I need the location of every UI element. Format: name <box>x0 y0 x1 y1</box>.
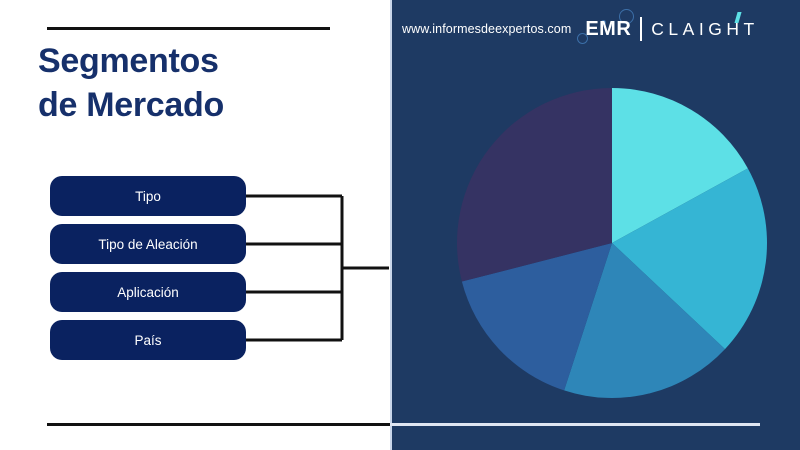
brand-bar: www.informesdeexpertos.com EMR CLAIGHT <box>392 14 800 44</box>
top-divider-rule <box>47 27 330 30</box>
infographic-slide: Segmentos de Mercado Tipo Tipo de Aleaci… <box>0 0 800 450</box>
segment-list: Tipo Tipo de Aleación Aplicación País <box>50 176 246 360</box>
logo-emr-text: EMR <box>585 18 631 41</box>
bottom-divider-rule <box>47 423 390 426</box>
right-panel: www.informesdeexpertos.com EMR CLAIGHT <box>390 0 800 450</box>
segment-item-aplicacion[interactable]: Aplicación <box>50 272 246 312</box>
pie-chart-svg <box>457 88 767 398</box>
left-panel: Segmentos de Mercado Tipo Tipo de Aleaci… <box>0 0 390 450</box>
bottom-divider-rule-right <box>390 423 760 426</box>
emr-claight-logo[interactable]: EMR CLAIGHT <box>585 14 758 44</box>
segment-item-tipo[interactable]: Tipo <box>50 176 246 216</box>
pie-chart <box>457 88 767 398</box>
segment-item-tipo-de-aleacion[interactable]: Tipo de Aleación <box>50 224 246 264</box>
segment-item-label: Tipo <box>135 189 161 204</box>
segment-item-label: País <box>134 333 161 348</box>
page-title-line-1: Segmentos <box>38 40 368 84</box>
page-title-line-2: de Mercado <box>38 84 368 128</box>
segment-item-label: Aplicación <box>117 285 179 300</box>
logo-claight-text: CLAIGHT <box>651 19 758 40</box>
logo-separator <box>640 17 642 41</box>
page-title: Segmentos de Mercado <box>38 40 368 127</box>
site-url[interactable]: www.informesdeexpertos.com <box>402 22 571 36</box>
segment-item-pais[interactable]: País <box>50 320 246 360</box>
segment-item-label: Tipo de Aleación <box>98 237 197 252</box>
